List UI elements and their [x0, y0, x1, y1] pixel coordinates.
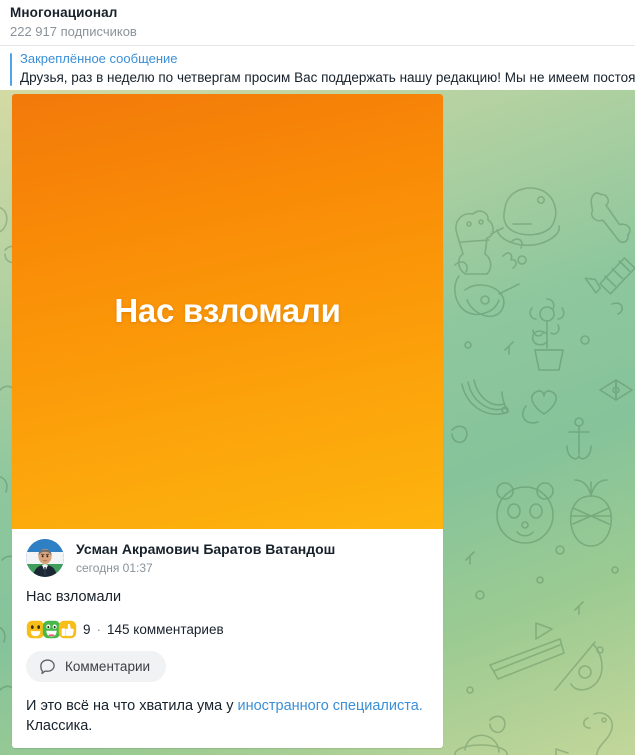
pinned-message-text: Друзья, раз в неделю по четвергам просим… [20, 68, 635, 87]
pinned-accent-stripe [10, 53, 12, 86]
post-text: Нас взломали [26, 587, 429, 607]
channel-post-bubble[interactable]: Нас взломали [12, 94, 443, 748]
avatar[interactable] [26, 539, 64, 577]
pinned-message-bar[interactable]: Закреплённое сообщение Друзья, раз в нед… [0, 47, 635, 90]
speech-bubble-icon [39, 658, 56, 675]
reaction-count: 9 [83, 620, 91, 639]
comments-button-label: Комментарии [65, 658, 150, 675]
comments-count-label[interactable]: 145 комментариев [107, 620, 224, 639]
post-author-name: Усман Акрамович Баратов Ватандош [76, 540, 335, 558]
channel-title: Многонационал [10, 4, 635, 22]
pinned-message-label: Закреплённое сообщение [20, 50, 635, 68]
comments-button[interactable]: Комментарии [26, 651, 166, 682]
foreign-specialist-link[interactable]: иностранного специалиста. [237, 698, 422, 714]
footer-text-before: И это всё на что хватила ума у [26, 698, 237, 714]
avatar-image [26, 539, 64, 577]
telegram-channel-view: Многонационал 222 917 подписчиков Закреп… [0, 0, 635, 755]
thumbs-up-icon[interactable] [58, 620, 77, 639]
chat-header[interactable]: Многонационал 222 917 подписчиков [0, 0, 635, 46]
channel-subscribers-count: 222 917 подписчиков [10, 23, 635, 41]
post-author-row[interactable]: Усман Акрамович Баратов Ватандош сегодня… [26, 539, 429, 577]
post-body: Усман Акрамович Баратов Ватандош сегодня… [12, 529, 443, 748]
footer-text-after: Классика. [26, 718, 92, 734]
photo-caption-text: Нас взломали [12, 292, 443, 330]
post-photo[interactable]: Нас взломали [12, 94, 443, 529]
pinned-message-body: Закреплённое сообщение Друзья, раз в нед… [20, 50, 635, 87]
reaction-separator: · [97, 620, 102, 639]
post-author-meta: Усман Акрамович Баратов Ватандош сегодня… [76, 540, 335, 576]
post-timestamp: сегодня 01:37 [76, 560, 335, 576]
post-reactions-row[interactable]: 9 · 145 комментариев [26, 619, 429, 639]
post-footer-text: И это всё на что хватила ума у иностранн… [26, 696, 429, 736]
